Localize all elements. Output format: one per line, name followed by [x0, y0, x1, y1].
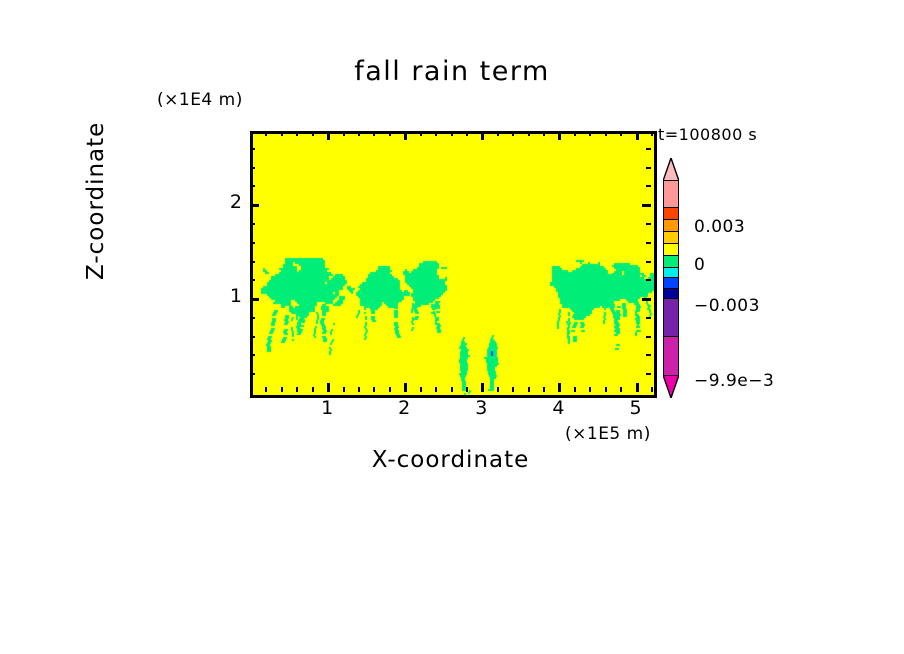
colorbar-band — [664, 256, 678, 268]
x-tick-top — [651, 131, 653, 136]
x-tick-label: 5 — [616, 397, 656, 419]
x-tick-label: 2 — [384, 397, 424, 419]
colorbar — [655, 158, 689, 400]
x-tick-label: 4 — [538, 397, 578, 419]
x-tick-bottom — [636, 383, 639, 392]
y-tick-right — [646, 261, 651, 263]
x-tick-top — [481, 131, 484, 140]
colorbar-band — [664, 220, 678, 232]
x-tick-bottom — [312, 387, 314, 392]
figure-canvas: fall rain term (×1E4 m) t=100800 s 12345… — [0, 0, 904, 654]
colorbar-band — [664, 244, 678, 256]
x-tick-bottom — [343, 387, 345, 392]
x-tick-top — [605, 131, 607, 136]
colorbar-tick-label: −9.9e−3 — [694, 371, 774, 391]
x-tick-bottom — [589, 387, 591, 392]
x-tick-bottom — [605, 387, 607, 392]
y-tick-right — [646, 185, 651, 187]
y-axis-title: Z-coordinate — [83, 250, 109, 280]
x-tick-top — [543, 131, 545, 136]
x-tick-bottom — [481, 383, 484, 392]
x-tick-top — [373, 131, 375, 136]
colorbar-bottom-arrow-icon — [663, 375, 679, 398]
x-tick-top — [620, 131, 622, 136]
colorbar-band — [664, 337, 678, 374]
x-tick-bottom — [389, 387, 391, 392]
x-tick-bottom — [404, 383, 407, 392]
x-axis-unit-label: (×1E5 m) — [565, 424, 651, 444]
x-tick-top — [466, 131, 468, 136]
x-tick-top — [497, 131, 499, 136]
x-tick-top — [296, 131, 298, 136]
x-tick-bottom — [281, 387, 283, 392]
y-tick-left — [250, 261, 255, 263]
x-tick-bottom — [574, 387, 576, 392]
colorbar-tick-label: 0.003 — [694, 217, 745, 237]
y-tick-label: 2 — [212, 191, 242, 213]
x-tick-bottom — [435, 387, 437, 392]
y-axis-unit-label: (×1E4 m) — [157, 90, 243, 110]
x-tick-top — [281, 131, 283, 136]
x-tick-top — [358, 131, 360, 136]
y-tick-right — [646, 373, 651, 375]
x-tick-bottom — [358, 387, 360, 392]
colorbar-band — [664, 278, 678, 289]
x-tick-bottom — [651, 387, 653, 392]
y-tick-label: 1 — [212, 285, 242, 307]
x-tick-top — [512, 131, 514, 136]
y-tick-left — [250, 148, 255, 150]
y-tick-right — [646, 279, 651, 281]
chart-title: fall rain term — [0, 56, 904, 87]
y-tick-right — [642, 204, 651, 207]
x-tick-top — [389, 131, 391, 136]
x-tick-bottom — [327, 383, 330, 392]
colorbar-tick-label: 0 — [694, 255, 705, 275]
x-tick-bottom — [373, 387, 375, 392]
y-tick-right — [646, 354, 651, 356]
y-tick-left — [250, 336, 255, 338]
x-tick-top — [343, 131, 345, 136]
timestamp-annotation: t=100800 s — [658, 125, 757, 144]
y-tick-right — [646, 223, 651, 225]
x-tick-bottom — [420, 387, 422, 392]
x-tick-top — [265, 131, 267, 136]
y-tick-left — [250, 167, 255, 169]
y-tick-left — [250, 373, 255, 375]
y-tick-left — [250, 223, 255, 225]
colorbar-band — [664, 299, 678, 338]
colorbar-band — [664, 181, 678, 208]
colorbar-band — [664, 268, 678, 278]
x-tick-bottom — [451, 387, 453, 392]
y-tick-left — [250, 204, 259, 207]
x-tick-bottom — [528, 387, 530, 392]
x-tick-label: 3 — [461, 397, 501, 419]
x-tick-bottom — [466, 387, 468, 392]
y-tick-left — [250, 279, 255, 281]
x-tick-bottom — [497, 387, 499, 392]
y-tick-right — [642, 298, 651, 301]
x-tick-top — [327, 131, 330, 140]
x-axis-title: X-coordinate — [250, 447, 651, 473]
x-tick-top — [558, 131, 561, 140]
x-tick-top — [589, 131, 591, 136]
colorbar-tick-label: −0.003 — [694, 296, 760, 316]
x-tick-bottom — [296, 387, 298, 392]
y-tick-right — [646, 336, 651, 338]
y-tick-right — [646, 317, 651, 319]
x-tick-top — [404, 131, 407, 140]
field-heatmap — [253, 134, 654, 395]
y-tick-right — [646, 167, 651, 169]
x-tick-top — [420, 131, 422, 136]
x-tick-bottom — [620, 387, 622, 392]
y-tick-left — [250, 298, 259, 301]
y-tick-left — [250, 242, 255, 244]
y-tick-left — [250, 317, 255, 319]
x-tick-top — [528, 131, 530, 136]
colorbar-bands — [663, 180, 679, 376]
colorbar-band — [664, 289, 678, 299]
colorbar-band — [664, 208, 678, 220]
x-tick-bottom — [558, 383, 561, 392]
plot-area — [250, 131, 657, 398]
x-tick-bottom — [265, 387, 267, 392]
x-tick-top — [435, 131, 437, 136]
colorbar-band — [664, 232, 678, 244]
x-tick-label: 1 — [307, 397, 347, 419]
y-tick-left — [250, 185, 255, 187]
x-tick-top — [574, 131, 576, 136]
x-tick-top — [451, 131, 453, 136]
x-tick-top — [312, 131, 314, 136]
x-tick-bottom — [543, 387, 545, 392]
y-tick-right — [646, 148, 651, 150]
colorbar-top-arrow-icon — [663, 158, 679, 181]
y-tick-left — [250, 354, 255, 356]
y-tick-right — [646, 242, 651, 244]
x-tick-bottom — [512, 387, 514, 392]
x-tick-top — [636, 131, 639, 140]
